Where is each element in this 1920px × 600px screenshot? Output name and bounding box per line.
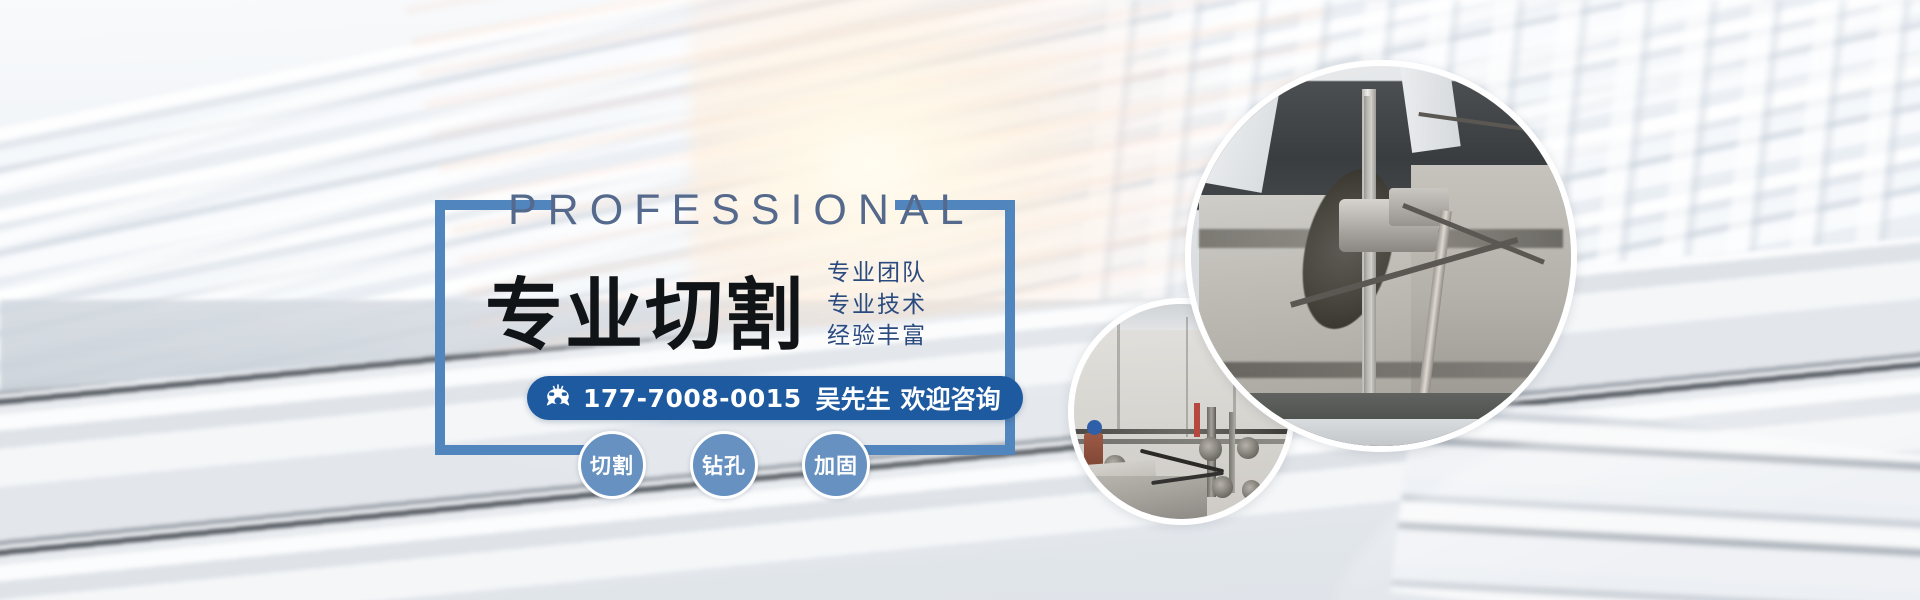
promotional-banner: PROFESSIONAL 专业切割 专业团队 专业技术 经验丰富 177-700… (0, 0, 1920, 600)
telephone-icon (543, 383, 573, 413)
service-badge-label: 切割 (590, 450, 634, 480)
service-badge-cutting[interactable]: 切割 (578, 431, 646, 499)
phone-number: 177-7008-0015 (583, 384, 802, 413)
photo-guide-mast-inner (1364, 96, 1372, 430)
photo-pulley-4 (1242, 480, 1261, 499)
contact-person-name: 吴先生 (816, 380, 891, 416)
service-badge-reinforcement[interactable]: 加固 (802, 431, 870, 499)
service-badge-label: 钻孔 (702, 450, 746, 480)
feature-item: 经验丰富 (827, 321, 927, 353)
service-badges: 切割 钻孔 加固 (578, 431, 870, 499)
feature-item: 专业团队 (827, 258, 927, 290)
photo-floor (1191, 419, 1571, 446)
service-badge-drilling[interactable]: 钻孔 (690, 431, 758, 499)
photo-wall-seam-2 (1186, 317, 1189, 437)
feature-list: 专业团队 专业技术 经验丰富 (827, 258, 927, 353)
headline-row: 专业切割 专业团队 专业技术 经验丰富 (485, 258, 927, 355)
contact-phone-bar[interactable]: 177-7008-0015 吴先生 欢迎咨询 (527, 376, 1023, 420)
photo-pulley-3 (1212, 476, 1234, 498)
eyebrow-text: PROFESSIONAL (508, 186, 975, 235)
photo-wall-seam-1 (1117, 321, 1120, 433)
feature-item: 专业技术 (827, 290, 927, 322)
bracket-left-segment (435, 200, 445, 455)
photo-cut-seam-lower (1206, 362, 1563, 377)
contact-cta-text: 欢迎咨询 (901, 380, 1001, 416)
concrete-cutting-machine-photo (1185, 60, 1577, 452)
banner-content: PROFESSIONAL 专业切割 专业团队 专业技术 经验丰富 177-700… (0, 0, 1100, 600)
service-badge-label: 加固 (814, 450, 858, 480)
page-title: 专业切割 (485, 277, 805, 355)
